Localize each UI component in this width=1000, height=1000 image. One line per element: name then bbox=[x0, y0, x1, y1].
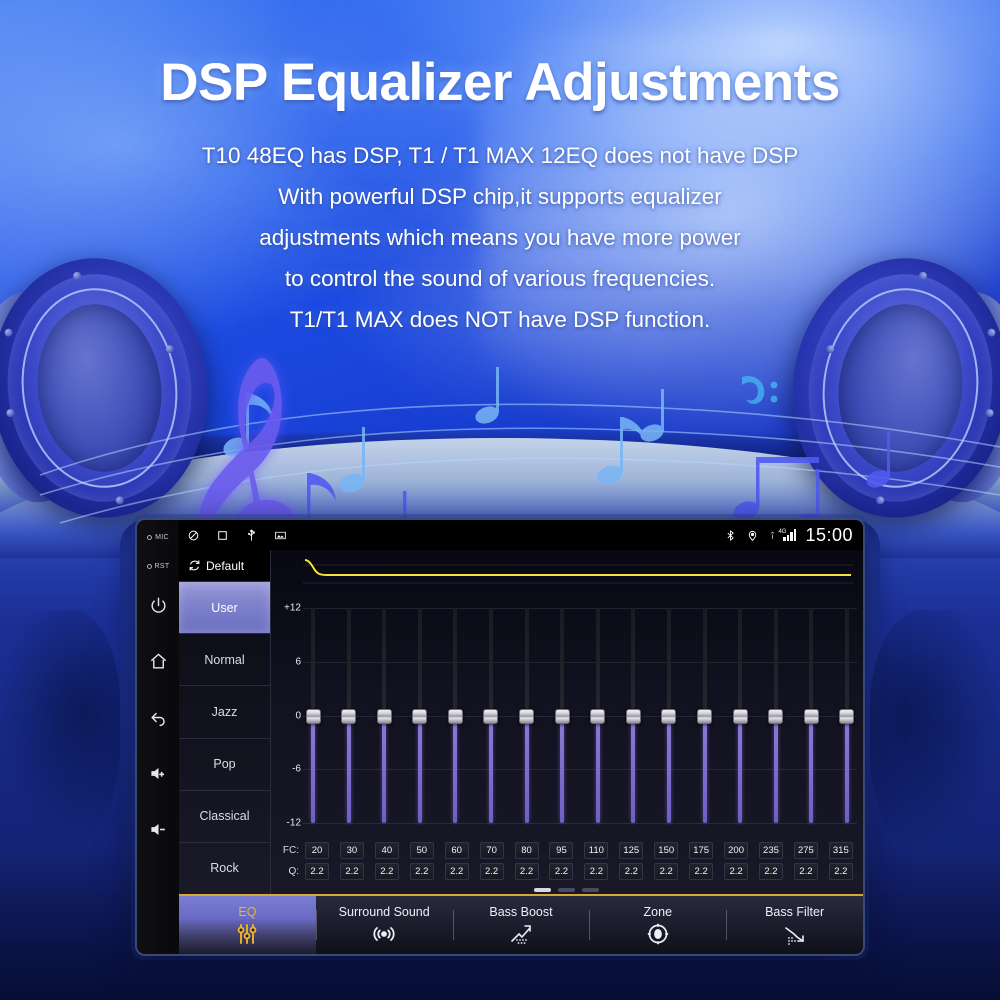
slider-thumb[interactable] bbox=[555, 709, 570, 724]
back-button[interactable] bbox=[145, 704, 171, 730]
tab-label: Zone bbox=[644, 905, 673, 919]
slider-track-lower bbox=[418, 716, 422, 824]
subtitle-line: adjustments which means you have more po… bbox=[0, 217, 1000, 258]
q-value-cell[interactable]: 2.2 bbox=[584, 863, 608, 880]
volume-down-icon bbox=[149, 820, 168, 839]
tab-label: EQ bbox=[238, 905, 256, 919]
eq-band-sliders[interactable] bbox=[303, 593, 857, 838]
slider-track-lower bbox=[382, 716, 386, 824]
slider-track-lower bbox=[809, 716, 813, 824]
tab-label: Surround Sound bbox=[339, 905, 430, 919]
slider-thumb[interactable] bbox=[590, 709, 605, 724]
eq-band-slider[interactable] bbox=[483, 593, 499, 838]
fc-value-cell[interactable]: 60 bbox=[445, 842, 469, 859]
eq-band-slider[interactable] bbox=[839, 593, 855, 838]
fc-value-cell[interactable]: 80 bbox=[515, 842, 539, 859]
zone-target-icon bbox=[646, 922, 670, 946]
bluetooth-icon bbox=[724, 529, 737, 542]
subtitle-line: to control the sound of various frequenc… bbox=[0, 258, 1000, 299]
slider-track-upper bbox=[596, 608, 600, 716]
preset-item-user[interactable]: User bbox=[179, 581, 270, 633]
axis-tick: 0 bbox=[295, 710, 301, 721]
eq-band-slider[interactable] bbox=[376, 593, 392, 838]
slider-thumb[interactable] bbox=[341, 709, 356, 724]
slider-track-lower bbox=[703, 716, 707, 824]
fc-value-cell[interactable]: 175 bbox=[689, 842, 713, 859]
home-button[interactable] bbox=[145, 648, 171, 674]
q-value-cell[interactable]: 2.2 bbox=[689, 863, 713, 880]
slider-track-lower bbox=[667, 716, 671, 824]
q-value-cell[interactable]: 2.2 bbox=[305, 863, 329, 880]
recent-apps-icon[interactable] bbox=[216, 529, 229, 542]
fc-value-cell[interactable]: 70 bbox=[480, 842, 504, 859]
audio-settings-tabbar: EQ Surround Sound bbox=[179, 894, 863, 954]
heading-block: DSP Equalizer Adjustments T10 48EQ has D… bbox=[0, 52, 1000, 340]
slider-track-upper bbox=[774, 608, 778, 716]
mic-indicator: MIC bbox=[147, 534, 169, 541]
car-head-unit: MIC RST bbox=[135, 518, 865, 956]
slider-thumb[interactable] bbox=[412, 709, 427, 724]
fc-value-cell[interactable]: 200 bbox=[724, 842, 748, 859]
fc-value-cell[interactable]: 50 bbox=[410, 842, 434, 859]
eq-band-slider[interactable] bbox=[341, 593, 357, 838]
subtitle-line: T10 48EQ has DSP, T1 / T1 MAX 12EQ does … bbox=[0, 135, 1000, 176]
q-value-cell[interactable]: 2.2 bbox=[410, 863, 434, 880]
slider-thumb[interactable] bbox=[483, 709, 498, 724]
axis-tick: 6 bbox=[295, 656, 301, 667]
slider-track-upper bbox=[845, 608, 849, 716]
eq-band-slider[interactable] bbox=[412, 593, 428, 838]
usb-icon[interactable] bbox=[245, 529, 258, 542]
hardware-button-bezel: MIC RST bbox=[137, 520, 179, 954]
slider-track-lower bbox=[489, 716, 493, 824]
refresh-icon bbox=[188, 559, 201, 572]
screenshot-icon[interactable] bbox=[274, 529, 287, 542]
q-value-cell[interactable]: 2.2 bbox=[515, 863, 539, 880]
fc-label: FC: bbox=[275, 845, 303, 856]
slider-track-upper bbox=[418, 608, 422, 716]
status-left-icons bbox=[187, 529, 287, 542]
preset-label: Classical bbox=[199, 809, 249, 823]
preset-list: Default User Normal Jazz Pop Classical bbox=[179, 550, 271, 894]
slider-track-lower bbox=[774, 716, 778, 824]
preset-default-reset[interactable]: Default bbox=[179, 550, 270, 581]
preset-label: User bbox=[211, 601, 237, 615]
preset-label: Normal bbox=[204, 653, 244, 667]
q-label: Q: bbox=[275, 866, 303, 877]
slider-thumb[interactable] bbox=[306, 709, 321, 724]
tab-label: Bass Boost bbox=[489, 905, 552, 919]
slider-track-upper bbox=[311, 608, 315, 716]
preset-item-classical[interactable]: Classical bbox=[179, 790, 270, 842]
eq-band-slider[interactable] bbox=[519, 593, 535, 838]
slider-thumb[interactable] bbox=[377, 709, 392, 724]
slider-track-upper bbox=[347, 608, 351, 716]
slider-track-lower bbox=[525, 716, 529, 824]
volume-down-button[interactable] bbox=[145, 816, 171, 842]
reset-label: RST bbox=[155, 563, 170, 570]
page-indicator[interactable] bbox=[275, 885, 857, 894]
eq-band-slider[interactable] bbox=[590, 593, 606, 838]
volume-up-button[interactable] bbox=[145, 760, 171, 786]
eq-band-slider[interactable] bbox=[554, 593, 570, 838]
axis-tick: +12 bbox=[284, 602, 301, 613]
slider-track-lower bbox=[631, 716, 635, 824]
dashboard-vent-left bbox=[0, 610, 120, 840]
fc-row: FC: 203040506070809511012515017520023527… bbox=[275, 841, 855, 860]
q-row: Q: 2.22.22.22.22.22.22.22.22.22.22.22.22… bbox=[275, 862, 855, 881]
slider-track-lower bbox=[453, 716, 457, 824]
eq-band-slider[interactable] bbox=[625, 593, 641, 838]
reset-hole-icon bbox=[147, 564, 152, 569]
slider-thumb[interactable] bbox=[448, 709, 463, 724]
gain-axis: +12 6 0 -6 -12 bbox=[275, 593, 303, 838]
q-value-cell[interactable]: 2.2 bbox=[724, 863, 748, 880]
slider-thumb[interactable] bbox=[626, 709, 641, 724]
slider-track-upper bbox=[525, 608, 529, 716]
android-status-bar: 4G 15:00 bbox=[179, 520, 863, 550]
fc-cells[interactable]: 2030405060708095110125150175200235275315 bbox=[303, 842, 855, 859]
eq-band-slider[interactable] bbox=[768, 593, 784, 838]
fc-value-cell[interactable]: 125 bbox=[619, 842, 643, 859]
page-title: DSP Equalizer Adjustments bbox=[0, 52, 1000, 113]
tab-surround-sound[interactable]: Surround Sound bbox=[316, 896, 453, 954]
slider-thumb[interactable] bbox=[839, 709, 854, 724]
dashboard-vent-right bbox=[870, 610, 1000, 850]
subtitle-line: With powerful DSP chip,it supports equal… bbox=[0, 176, 1000, 217]
fc-value-cell[interactable]: 275 bbox=[794, 842, 818, 859]
touchscreen[interactable]: 4G 15:00 Default User bbox=[179, 520, 863, 954]
status-right-icons: 4G 15:00 bbox=[724, 525, 853, 546]
slider-thumb[interactable] bbox=[697, 709, 712, 724]
eq-band-slider[interactable] bbox=[661, 593, 677, 838]
slider-thumb[interactable] bbox=[661, 709, 676, 724]
page-dot[interactable] bbox=[534, 888, 551, 892]
signal-bars-icon bbox=[783, 529, 796, 541]
q-value-cell[interactable]: 2.2 bbox=[794, 863, 818, 880]
slider-thumb[interactable] bbox=[768, 709, 783, 724]
preset-label: Rock bbox=[210, 861, 238, 875]
page-subtitle: T10 48EQ has DSP, T1 / T1 MAX 12EQ does … bbox=[0, 135, 1000, 340]
q-value-cell[interactable]: 2.2 bbox=[340, 863, 364, 880]
fc-value-cell[interactable]: 30 bbox=[340, 842, 364, 859]
eq-band-slider[interactable] bbox=[447, 593, 463, 838]
power-icon bbox=[149, 596, 168, 615]
tab-eq[interactable]: EQ bbox=[179, 896, 316, 954]
q-value-cell[interactable]: 2.2 bbox=[445, 863, 469, 880]
back-icon bbox=[149, 708, 168, 727]
page-dot[interactable] bbox=[558, 888, 575, 892]
fc-value-cell[interactable]: 40 bbox=[375, 842, 399, 859]
axis-tick: -12 bbox=[287, 818, 301, 829]
image-icon bbox=[274, 529, 287, 542]
preset-default-label: Default bbox=[206, 559, 244, 573]
fc-value-cell[interactable]: 150 bbox=[654, 842, 678, 859]
preset-label: Jazz bbox=[212, 705, 238, 719]
location-icon bbox=[746, 529, 759, 542]
mic-label: MIC bbox=[155, 534, 169, 541]
q-cells[interactable]: 2.22.22.22.22.22.22.22.22.22.22.22.22.22… bbox=[303, 863, 855, 880]
slider-track-lower bbox=[347, 716, 351, 824]
tab-label: Bass Filter bbox=[765, 905, 824, 919]
surround-waves-icon bbox=[372, 922, 396, 946]
reset-button[interactable]: RST bbox=[147, 563, 170, 570]
eq-band-slider[interactable] bbox=[732, 593, 748, 838]
q-value-cell[interactable]: 2.2 bbox=[480, 863, 504, 880]
preset-item-jazz[interactable]: Jazz bbox=[179, 685, 270, 737]
tab-zone[interactable]: Zone bbox=[589, 896, 726, 954]
equalizer-main: +12 6 0 -6 -12 bbox=[271, 550, 863, 894]
signal-4g-icon: 4G bbox=[768, 529, 796, 542]
tab-bass-filter[interactable]: Bass Filter bbox=[726, 896, 863, 954]
fc-value-cell[interactable]: 315 bbox=[829, 842, 853, 859]
band-parameter-rows: FC: 203040506070809511012515017520023527… bbox=[275, 838, 857, 885]
q-value-cell[interactable]: 2.2 bbox=[829, 863, 853, 880]
bass-boost-chart-icon bbox=[509, 922, 533, 946]
slider-track-upper bbox=[560, 608, 564, 716]
eq-slider-grid: +12 6 0 -6 -12 bbox=[275, 589, 857, 838]
eq-band-slider[interactable] bbox=[803, 593, 819, 838]
slider-thumb[interactable] bbox=[519, 709, 534, 724]
tab-bass-boost[interactable]: Bass Boost bbox=[453, 896, 590, 954]
slider-thumb[interactable] bbox=[733, 709, 748, 724]
q-value-cell[interactable]: 2.2 bbox=[375, 863, 399, 880]
page-dot[interactable] bbox=[582, 888, 599, 892]
slider-track-lower bbox=[845, 716, 849, 824]
equalizer-screen: Default User Normal Jazz Pop Classical bbox=[179, 550, 863, 894]
slider-track-upper bbox=[382, 608, 386, 716]
preset-item-rock[interactable]: Rock bbox=[179, 842, 270, 894]
slider-track-upper bbox=[738, 608, 742, 716]
fc-value-cell[interactable]: 20 bbox=[305, 842, 329, 859]
slider-track-upper bbox=[631, 608, 635, 716]
bass-filter-icon bbox=[783, 922, 807, 946]
home-icon bbox=[149, 652, 168, 671]
axis-tick: -6 bbox=[292, 764, 301, 775]
q-value-cell[interactable]: 2.2 bbox=[759, 863, 783, 880]
q-value-cell[interactable]: 2.2 bbox=[654, 863, 678, 880]
slider-track-lower bbox=[596, 716, 600, 824]
q-value-cell[interactable]: 2.2 bbox=[619, 863, 643, 880]
mic-hole-icon bbox=[147, 535, 152, 540]
equalizer-sliders-icon bbox=[235, 922, 259, 946]
clock: 15:00 bbox=[805, 525, 853, 546]
slider-track-upper bbox=[489, 608, 493, 716]
subtitle-line: T1/T1 MAX does NOT have DSP function. bbox=[0, 299, 1000, 340]
fc-value-cell[interactable]: 95 bbox=[549, 842, 573, 859]
slider-track-upper bbox=[667, 608, 671, 716]
dnd-mute-icon[interactable] bbox=[187, 529, 200, 542]
volume-up-icon bbox=[149, 764, 168, 783]
eq-band-slider[interactable] bbox=[697, 593, 713, 838]
q-value-cell[interactable]: 2.2 bbox=[549, 863, 573, 880]
slider-track-upper bbox=[809, 608, 813, 716]
slider-track-lower bbox=[560, 716, 564, 824]
power-button[interactable] bbox=[145, 592, 171, 618]
preset-item-pop[interactable]: Pop bbox=[179, 738, 270, 790]
fc-value-cell[interactable]: 235 bbox=[759, 842, 783, 859]
slider-track-lower bbox=[738, 716, 742, 824]
preset-label: Pop bbox=[213, 757, 235, 771]
preset-item-normal[interactable]: Normal bbox=[179, 633, 270, 685]
frequency-response-curve bbox=[303, 555, 853, 589]
eq-band-slider[interactable] bbox=[305, 593, 321, 838]
slider-thumb[interactable] bbox=[804, 709, 819, 724]
slider-track-upper bbox=[703, 608, 707, 716]
slider-track-upper bbox=[453, 608, 457, 716]
fc-value-cell[interactable]: 110 bbox=[584, 842, 608, 859]
slider-track-lower bbox=[311, 716, 315, 824]
